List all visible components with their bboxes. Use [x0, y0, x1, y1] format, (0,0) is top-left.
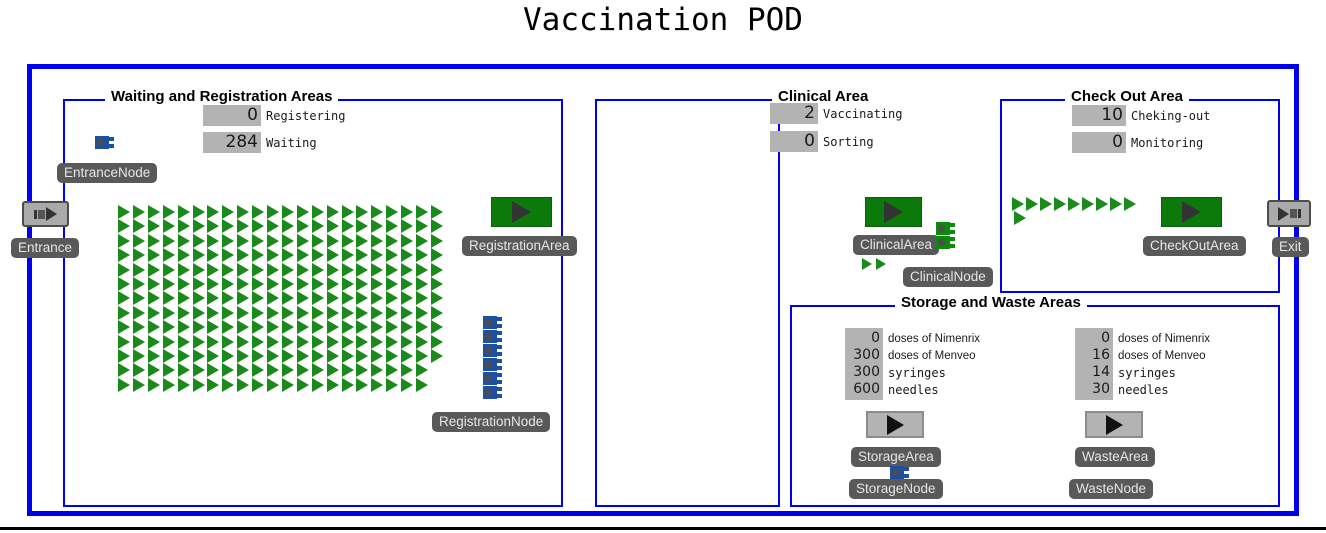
entity-triangle-icon: [148, 263, 160, 277]
entity-triangle-icon: [193, 291, 205, 305]
entity-triangle-icon: [1026, 197, 1038, 211]
entity-triangle-icon: [133, 291, 145, 305]
entity-triangle-icon: [371, 306, 383, 320]
entity-triangle-icon: [401, 234, 413, 248]
entity-triangle-icon: [118, 248, 130, 262]
entity-triangle-icon: [312, 335, 324, 349]
panel-title-waiting-registration: Waiting and Registration Areas: [105, 89, 338, 105]
entity-triangle-icon: [1096, 197, 1108, 211]
entity-triangle-icon: [342, 363, 354, 377]
stat-waste-needles-value: 30: [1075, 379, 1113, 400]
entity-triangle-icon: [163, 234, 175, 248]
entity-triangle-icon: [133, 263, 145, 277]
entity-triangle-icon: [252, 291, 264, 305]
registration-area-tag[interactable]: RegistrationArea: [462, 236, 577, 256]
entity-triangle-icon: [118, 363, 130, 377]
entity-triangle-icon: [148, 363, 160, 377]
entity-triangle-icon: [1014, 211, 1026, 225]
entity-triangle-icon: [207, 349, 219, 363]
entity-triangle-icon: [178, 248, 190, 262]
entity-triangle-icon: [237, 205, 249, 219]
storage-node-server-icon: [890, 466, 909, 479]
storage-area-activity[interactable]: [866, 411, 924, 438]
entity-triangle-icon: [252, 234, 264, 248]
entity-triangle-icon: [207, 263, 219, 277]
entity-triangle-icon: [401, 363, 413, 377]
entity-triangle-icon: [431, 277, 443, 291]
entrance-arrow-icon: [46, 207, 57, 221]
entity-triangle-icon: [207, 277, 219, 291]
check-out-area-activity[interactable]: [1161, 197, 1222, 227]
entity-triangle-icon: [163, 306, 175, 320]
entity-triangle-icon: [297, 248, 309, 262]
entity-triangle-icon: [237, 277, 249, 291]
stat-sorting-label: Sorting: [823, 135, 874, 149]
entity-triangle-icon: [297, 234, 309, 248]
exit-tag[interactable]: Exit: [1272, 237, 1309, 257]
entity-triangle-icon: [431, 263, 443, 277]
entity-triangle-icon: [371, 320, 383, 334]
entity-triangle-icon: [178, 234, 190, 248]
entity-triangle-icon: [193, 205, 205, 219]
entity-triangle-icon: [862, 258, 872, 270]
entity-triangle-icon: [178, 349, 190, 363]
entity-triangle-icon: [252, 205, 264, 219]
entity-triangle-icon: [178, 306, 190, 320]
entity-triangle-icon: [371, 378, 383, 392]
entity-triangle-icon: [356, 378, 368, 392]
entity-triangle-icon: [297, 306, 309, 320]
entity-triangle-icon: [178, 277, 190, 291]
stat-storage-nimenrix-label: doses of Nimenrix: [888, 333, 980, 345]
entity-triangle-icon: [327, 378, 339, 392]
entity-triangle-icon: [148, 378, 160, 392]
entity-triangle-icon: [416, 349, 428, 363]
entity-triangle-icon: [401, 306, 413, 320]
entity-triangle-icon: [401, 378, 413, 392]
stat-monitoring-value: 0: [1072, 132, 1126, 153]
entity-triangle-icon: [207, 234, 219, 248]
entity-triangle-icon: [371, 363, 383, 377]
entity-triangle-icon: [297, 335, 309, 349]
entity-triangle-icon: [312, 219, 324, 233]
entity-triangle-icon: [416, 363, 428, 377]
entrance-bar-icon: [34, 210, 37, 219]
entity-triangle-icon: [312, 349, 324, 363]
entity-triangle-icon: [386, 234, 398, 248]
entity-triangle-icon: [148, 349, 160, 363]
entity-triangle-icon: [267, 205, 279, 219]
entity-triangle-icon: [297, 263, 309, 277]
entity-triangle-icon: [252, 320, 264, 334]
entity-triangle-icon: [327, 349, 339, 363]
entity-triangle-icon: [401, 219, 413, 233]
entity-triangle-icon: [118, 291, 130, 305]
entity-triangle-icon: [356, 349, 368, 363]
entity-triangle-icon: [342, 320, 354, 334]
entity-triangle-icon: [416, 291, 428, 305]
stat-registering: 0 Registering: [203, 105, 345, 126]
entity-triangle-icon: [267, 263, 279, 277]
stat-waste-needles-label: needles: [1118, 383, 1169, 397]
registration-server-icon: [483, 316, 502, 329]
entity-triangle-icon: [416, 320, 428, 334]
entity-triangle-icon: [386, 263, 398, 277]
entity-triangle-icon: [342, 219, 354, 233]
entity-triangle-icon: [237, 306, 249, 320]
entity-triangle-icon: [327, 363, 339, 377]
entity-triangle-icon: [267, 349, 279, 363]
entity-triangle-icon: [193, 277, 205, 291]
entity-triangle-icon: [342, 248, 354, 262]
entity-triangle-icon: [178, 363, 190, 377]
window-bottom-edge: [0, 527, 1326, 530]
entity-triangle-icon: [133, 335, 145, 349]
entrance-tag[interactable]: Entrance: [11, 238, 79, 258]
entity-triangle-icon: [431, 320, 443, 334]
entity-triangle-icon: [163, 277, 175, 291]
entity-triangle-icon: [356, 306, 368, 320]
entity-triangle-icon: [342, 205, 354, 219]
entity-triangle-icon: [178, 335, 190, 349]
entity-triangle-icon: [371, 263, 383, 277]
entity-triangle-icon: [297, 363, 309, 377]
entity-triangle-icon: [356, 263, 368, 277]
entity-triangle-icon: [312, 306, 324, 320]
entity-triangle-icon: [133, 320, 145, 334]
entity-triangle-icon: [386, 219, 398, 233]
entity-triangle-icon: [133, 205, 145, 219]
stat-vaccinating-label: Vaccinating: [823, 107, 902, 121]
entity-triangle-icon: [1068, 197, 1080, 211]
entity-triangle-icon: [386, 335, 398, 349]
entity-triangle-icon: [297, 349, 309, 363]
entity-triangle-icon: [237, 349, 249, 363]
entity-triangle-icon: [401, 320, 413, 334]
registration-node-tag[interactable]: RegistrationNode: [432, 412, 550, 432]
storage-area-tag[interactable]: StorageArea: [851, 447, 941, 467]
entity-triangle-icon: [193, 320, 205, 334]
entity-triangle-icon: [282, 263, 294, 277]
stat-waste-menveo-label: doses of Menveo: [1118, 350, 1206, 362]
entity-triangle-icon: [282, 205, 294, 219]
clinical-area-activity[interactable]: [865, 197, 922, 227]
entity-triangle-icon: [207, 306, 219, 320]
entity-triangle-icon: [312, 363, 324, 377]
entity-triangle-icon: [252, 378, 264, 392]
entity-triangle-icon: [282, 306, 294, 320]
entity-triangle-icon: [431, 205, 443, 219]
entity-triangle-icon: [371, 248, 383, 262]
entity-triangle-icon: [371, 234, 383, 248]
stat-sorting-value: 0: [770, 131, 818, 152]
entity-triangle-icon: [282, 349, 294, 363]
entity-triangle-icon: [207, 291, 219, 305]
entity-triangle-icon: [267, 320, 279, 334]
entity-triangle-icon: [118, 263, 130, 277]
registration-server-icon: [483, 372, 502, 385]
registration-server-icon: [483, 330, 502, 343]
entity-triangle-icon: [267, 248, 279, 262]
entrance-source-button[interactable]: [22, 201, 69, 227]
entity-triangle-icon: [371, 277, 383, 291]
entity-triangle-icon: [386, 248, 398, 262]
stat-checking-out-label: Cheking-out: [1131, 109, 1210, 123]
entity-triangle-icon: [342, 349, 354, 363]
entity-triangle-icon: [267, 277, 279, 291]
entity-triangle-icon: [386, 306, 398, 320]
entity-triangle-icon: [118, 320, 130, 334]
waste-area-tag[interactable]: WasteArea: [1075, 447, 1155, 467]
entity-triangle-icon: [118, 335, 130, 349]
entrance-node-server-icon: [95, 136, 114, 149]
entity-triangle-icon: [193, 234, 205, 248]
entity-triangle-icon: [222, 349, 234, 363]
play-icon: [884, 201, 903, 223]
entity-triangle-icon: [356, 219, 368, 233]
entity-triangle-icon: [356, 335, 368, 349]
entity-triangle-icon: [1040, 197, 1052, 211]
stat-registering-label: Registering: [266, 109, 345, 123]
entity-triangle-icon: [416, 205, 428, 219]
exit-sink-button[interactable]: [1267, 200, 1311, 227]
entity-triangle-icon: [252, 248, 264, 262]
entity-triangle-icon: [386, 291, 398, 305]
entity-triangle-icon: [267, 234, 279, 248]
stat-storage-needles-value: 600: [845, 379, 883, 400]
waste-node-tag[interactable]: WasteNode: [1069, 479, 1153, 499]
entity-triangle-icon: [222, 363, 234, 377]
entity-triangle-icon: [163, 349, 175, 363]
clinical-area-tag[interactable]: ClinicalArea: [853, 235, 939, 255]
entity-triangle-icon: [282, 363, 294, 377]
entity-triangle-icon: [163, 320, 175, 334]
entity-triangle-icon: [386, 205, 398, 219]
entity-triangle-icon: [282, 320, 294, 334]
entity-triangle-icon: [356, 291, 368, 305]
entity-triangle-icon: [148, 320, 160, 334]
entity-triangle-icon: [267, 363, 279, 377]
entity-triangle-icon: [193, 349, 205, 363]
entity-triangle-icon: [237, 219, 249, 233]
entity-triangle-icon: [267, 335, 279, 349]
entity-triangle-icon: [252, 363, 264, 377]
clinical-server-icon: [936, 222, 955, 235]
entity-triangle-icon: [133, 378, 145, 392]
entity-triangle-icon: [163, 363, 175, 377]
entity-triangle-icon: [1124, 197, 1136, 211]
entity-triangle-icon: [327, 306, 339, 320]
entity-triangle-icon: [237, 335, 249, 349]
entity-triangle-icon: [282, 248, 294, 262]
entity-triangle-icon: [282, 291, 294, 305]
exit-block-icon: [1290, 209, 1297, 218]
entity-triangle-icon: [416, 219, 428, 233]
entity-triangle-icon: [327, 263, 339, 277]
entity-triangle-icon: [431, 248, 443, 262]
entity-triangle-icon: [193, 306, 205, 320]
entity-triangle-icon: [118, 306, 130, 320]
entity-triangle-icon: [327, 234, 339, 248]
entity-triangle-icon: [163, 248, 175, 262]
entity-triangle-icon: [207, 378, 219, 392]
entity-triangle-icon: [163, 219, 175, 233]
entity-triangle-icon: [222, 378, 234, 392]
entity-triangle-icon: [267, 219, 279, 233]
exit-arrow-icon: [1278, 207, 1289, 221]
entity-triangle-icon: [237, 263, 249, 277]
entity-triangle-icon: [237, 363, 249, 377]
entity-triangle-icon: [431, 335, 443, 349]
entity-triangle-icon: [163, 335, 175, 349]
entity-triangle-icon: [312, 205, 324, 219]
check-out-area-tag[interactable]: CheckOutArea: [1143, 236, 1246, 256]
entity-triangle-icon: [133, 363, 145, 377]
entity-triangle-icon: [252, 277, 264, 291]
page-title: Vaccination POD: [0, 2, 1326, 38]
entity-triangle-icon: [222, 335, 234, 349]
entity-triangle-icon: [207, 320, 219, 334]
entity-triangle-icon: [222, 291, 234, 305]
entity-triangle-icon: [371, 205, 383, 219]
entity-triangle-icon: [1110, 197, 1122, 211]
stat-checking-out: 10 Cheking-out: [1072, 105, 1210, 126]
entity-triangle-icon: [371, 349, 383, 363]
entity-triangle-icon: [222, 320, 234, 334]
registration-server-icon: [483, 344, 502, 357]
waste-area-activity[interactable]: [1085, 411, 1143, 438]
entity-triangle-icon: [118, 219, 130, 233]
entity-triangle-icon: [148, 205, 160, 219]
stat-monitoring-label: Monitoring: [1131, 136, 1203, 150]
entity-triangle-icon: [207, 363, 219, 377]
play-icon: [1182, 201, 1201, 223]
entity-triangle-icon: [282, 234, 294, 248]
entity-triangle-icon: [178, 205, 190, 219]
entity-triangle-icon: [386, 320, 398, 334]
clinical-node-tag[interactable]: ClinicalNode: [903, 267, 993, 287]
entity-triangle-icon: [312, 234, 324, 248]
stat-registering-value: 0: [203, 105, 261, 126]
entity-triangle-icon: [282, 219, 294, 233]
entity-triangle-icon: [342, 234, 354, 248]
storage-node-tag[interactable]: StorageNode: [849, 479, 943, 499]
play-icon: [1106, 415, 1123, 435]
entity-triangle-icon: [193, 363, 205, 377]
registration-server-icon: [483, 386, 502, 399]
entrance-node-tag[interactable]: EntranceNode: [57, 163, 157, 183]
entity-triangle-icon: [148, 291, 160, 305]
registration-area-activity[interactable]: [491, 197, 552, 227]
entity-triangle-icon: [237, 378, 249, 392]
entity-triangle-icon: [416, 335, 428, 349]
entity-triangle-icon: [148, 234, 160, 248]
entity-triangle-icon: [297, 320, 309, 334]
stat-waste-needles: 30 needles: [1075, 379, 1169, 400]
entity-triangle-icon: [222, 219, 234, 233]
entity-triangle-icon: [252, 306, 264, 320]
stat-sorting: 0 Sorting: [770, 131, 874, 152]
entity-triangle-icon: [207, 205, 219, 219]
entity-triangle-icon: [416, 248, 428, 262]
entity-triangle-icon: [386, 363, 398, 377]
entity-triangle-icon: [237, 248, 249, 262]
entity-triangle-icon: [163, 291, 175, 305]
entity-triangle-icon: [252, 219, 264, 233]
entity-triangle-icon: [401, 263, 413, 277]
entity-triangle-icon: [163, 378, 175, 392]
stat-waiting: 284 Waiting: [203, 132, 317, 153]
entity-triangle-icon: [371, 291, 383, 305]
entity-triangle-icon: [327, 248, 339, 262]
entity-triangle-icon: [431, 291, 443, 305]
entity-triangle-icon: [148, 335, 160, 349]
registration-server-icon: [483, 358, 502, 371]
entity-triangle-icon: [371, 219, 383, 233]
entity-triangle-icon: [1082, 197, 1094, 211]
entity-triangle-icon: [207, 219, 219, 233]
entity-triangle-icon: [416, 378, 428, 392]
panel-title-storage-waste: Storage and Waste Areas: [895, 295, 1087, 311]
entity-triangle-icon: [356, 248, 368, 262]
entity-triangle-icon: [252, 349, 264, 363]
entity-triangle-icon: [297, 378, 309, 392]
entity-triangle-icon: [356, 363, 368, 377]
entity-triangle-icon: [356, 277, 368, 291]
entity-triangle-icon: [401, 349, 413, 363]
entity-triangle-icon: [118, 349, 130, 363]
entity-triangle-icon: [282, 378, 294, 392]
entity-triangle-icon: [297, 205, 309, 219]
waiting-entity-field: [118, 205, 478, 395]
entity-triangle-icon: [178, 219, 190, 233]
clinical-server-icon: [936, 236, 955, 249]
entity-triangle-icon: [401, 335, 413, 349]
entity-triangle-icon: [178, 263, 190, 277]
entity-triangle-icon: [401, 291, 413, 305]
entity-triangle-icon: [371, 335, 383, 349]
entity-triangle-icon: [401, 205, 413, 219]
entity-triangle-icon: [431, 306, 443, 320]
entity-triangle-icon: [327, 320, 339, 334]
entity-triangle-icon: [1054, 197, 1066, 211]
entity-triangle-icon: [342, 291, 354, 305]
entity-triangle-icon: [222, 306, 234, 320]
entity-triangle-icon: [312, 248, 324, 262]
entity-triangle-icon: [148, 277, 160, 291]
entity-triangle-icon: [312, 378, 324, 392]
entity-triangle-icon: [222, 205, 234, 219]
entity-triangle-icon: [193, 378, 205, 392]
entity-triangle-icon: [207, 335, 219, 349]
entity-triangle-icon: [133, 349, 145, 363]
entity-triangle-icon: [327, 291, 339, 305]
entity-triangle-icon: [222, 234, 234, 248]
entity-triangle-icon: [431, 219, 443, 233]
entity-triangle-icon: [386, 277, 398, 291]
entity-triangle-icon: [342, 306, 354, 320]
entity-triangle-icon: [237, 320, 249, 334]
entity-triangle-icon: [178, 320, 190, 334]
entity-triangle-icon: [222, 248, 234, 262]
entity-triangle-icon: [237, 291, 249, 305]
stat-vaccinating: 2 Vaccinating: [770, 103, 902, 124]
panel-title-check-out-area: Check Out Area: [1065, 89, 1189, 105]
entity-triangle-icon: [118, 277, 130, 291]
entity-triangle-icon: [133, 277, 145, 291]
entity-triangle-icon: [312, 291, 324, 305]
entity-triangle-icon: [163, 263, 175, 277]
